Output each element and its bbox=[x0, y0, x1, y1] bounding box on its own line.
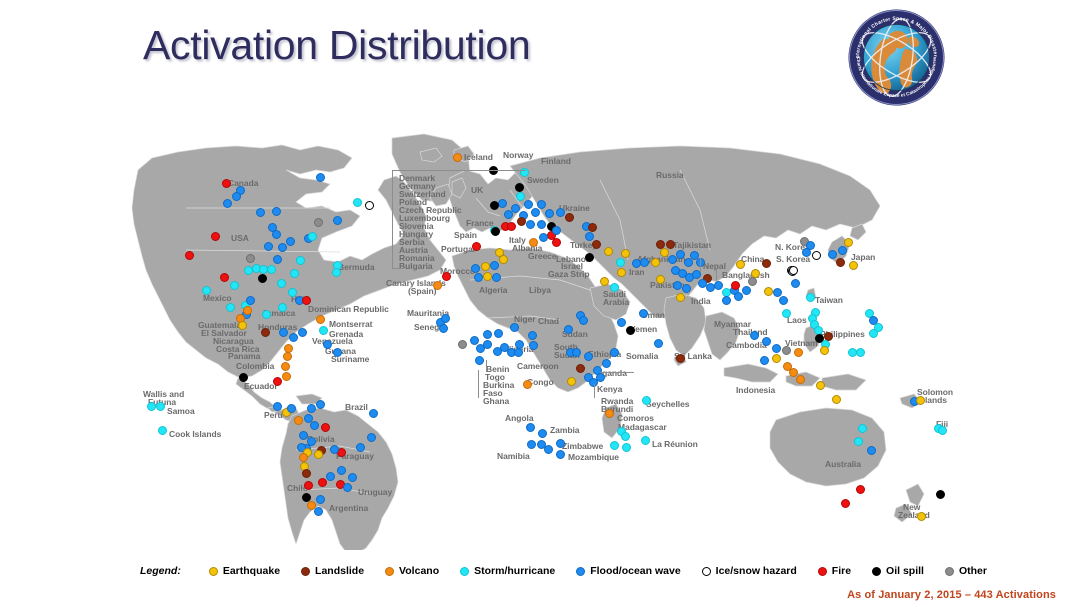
slide-canvas: Activation Distribution bbox=[0, 0, 1080, 608]
legend-item-flood-ocean-wave: Flood/ocean wave bbox=[576, 565, 680, 577]
legend-swatch-icon bbox=[576, 567, 585, 576]
legend-item-storm-hurricane: Storm/hurricane bbox=[460, 565, 555, 577]
legend-swatch-icon bbox=[702, 567, 711, 576]
legend-item-label: Fire bbox=[832, 565, 851, 577]
legend-swatch-icon bbox=[818, 567, 827, 576]
world-map bbox=[0, 120, 1080, 550]
legend-item-landslide: Landslide bbox=[301, 565, 364, 577]
legend-item-earthquake: Earthquake bbox=[209, 565, 280, 577]
legend-item-volcano: Volcano bbox=[385, 565, 439, 577]
legend-swatch-icon bbox=[209, 567, 218, 576]
international-charter-logo: International Charter Space & Major Disa… bbox=[845, 6, 948, 109]
legend-swatch-icon bbox=[385, 567, 394, 576]
legend-item-label: Ice/snow hazard bbox=[716, 565, 797, 577]
page-title: Activation Distribution bbox=[143, 22, 530, 69]
footer-status: As of January 2, 2015 – 443 Activations bbox=[847, 589, 1056, 601]
legend-item-label: Oil spill bbox=[886, 565, 924, 577]
landmasses bbox=[132, 134, 924, 550]
legend-item-label: Storm/hurricane bbox=[474, 565, 555, 577]
legend-item-label: Other bbox=[959, 565, 987, 577]
legend-swatch-icon bbox=[945, 567, 954, 576]
legend-item-label: Flood/ocean wave bbox=[590, 565, 680, 577]
legend-item-label: Landslide bbox=[315, 565, 364, 577]
legend-swatch-icon bbox=[872, 567, 881, 576]
legend-item-other: Other bbox=[945, 565, 987, 577]
legend-item-oil-spill: Oil spill bbox=[872, 565, 924, 577]
world-map-svg bbox=[0, 120, 1080, 550]
legend-swatch-icon bbox=[301, 567, 310, 576]
legend-item-fire: Fire bbox=[818, 565, 851, 577]
logo-icon: International Charter Space & Major Disa… bbox=[845, 6, 948, 109]
legend-item-ice-snow-hazard: Ice/snow hazard bbox=[702, 565, 797, 577]
legend-item-label: Earthquake bbox=[223, 565, 280, 577]
legend: Legend: EarthquakeLandslideVolcanoStorm/… bbox=[140, 565, 1008, 577]
legend-title: Legend: bbox=[140, 565, 181, 577]
legend-item-label: Volcano bbox=[399, 565, 439, 577]
legend-swatch-icon bbox=[460, 567, 469, 576]
